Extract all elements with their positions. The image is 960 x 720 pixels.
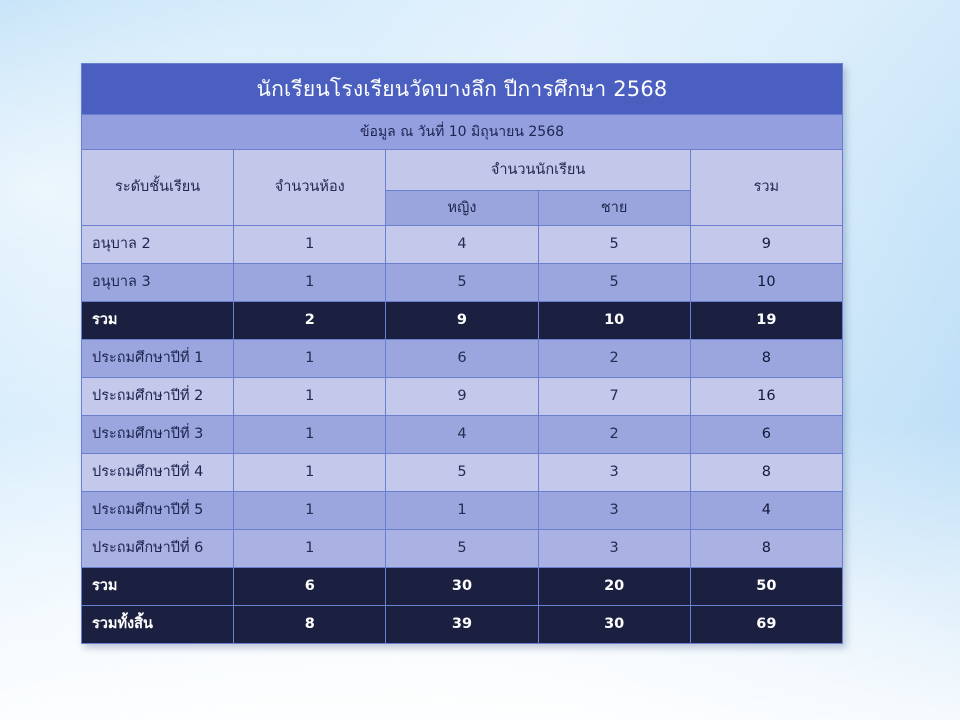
cell-level: ประถมศึกษาปีที่ 1 [82,340,234,378]
column-header-male: ชาย [538,191,690,226]
cell-rooms: 2 [234,302,386,340]
table-row: รวม6302050 [82,568,843,606]
table-row: ประถมศึกษาปีที่ 41538 [82,454,843,492]
cell-male: 7 [538,378,690,416]
column-header-level: ระดับชั้นเรียน [82,150,234,226]
cell-female: 5 [386,530,538,568]
table-row: อนุบาล 21459 [82,226,843,264]
cell-male: 3 [538,530,690,568]
cell-level: รวม [82,302,234,340]
cell-level: ประถมศึกษาปีที่ 3 [82,416,234,454]
cell-rooms: 1 [234,340,386,378]
cell-female: 5 [386,454,538,492]
cell-rooms: 1 [234,454,386,492]
data-as-of-subtitle: ข้อมูล ณ วันที่ 10 มิถุนายน 2568 [82,115,843,150]
cell-male: 5 [538,264,690,302]
cell-female: 9 [386,302,538,340]
cell-total: 69 [690,606,842,644]
cell-female: 39 [386,606,538,644]
cell-male: 2 [538,340,690,378]
cell-level: ประถมศึกษาปีที่ 2 [82,378,234,416]
cell-male: 2 [538,416,690,454]
cell-male: 5 [538,226,690,264]
cell-male: 30 [538,606,690,644]
title-row: นักเรียนโรงเรียนวัดบางลึก ปีการศึกษา 256… [82,64,843,115]
cell-rooms: 1 [234,378,386,416]
cell-level: รวม [82,568,234,606]
subtitle-row: ข้อมูล ณ วันที่ 10 มิถุนายน 2568 [82,115,843,150]
cell-female: 1 [386,492,538,530]
cell-total: 6 [690,416,842,454]
cell-level: ประถมศึกษาปีที่ 6 [82,530,234,568]
cell-male: 10 [538,302,690,340]
cell-level: ประถมศึกษาปีที่ 4 [82,454,234,492]
header-row-primary: ระดับชั้นเรียน จำนวนห้อง จำนวนนักเรียน ร… [82,150,843,191]
column-header-student-count-group: จำนวนนักเรียน [386,150,690,191]
cell-total: 10 [690,264,842,302]
cell-rooms: 1 [234,416,386,454]
table-row: รวม291019 [82,302,843,340]
table-row: ประถมศึกษาปีที่ 11628 [82,340,843,378]
cell-total: 16 [690,378,842,416]
cell-total: 50 [690,568,842,606]
cell-total: 9 [690,226,842,264]
cell-level: อนุบาล 2 [82,226,234,264]
cell-total: 8 [690,454,842,492]
cell-total: 8 [690,340,842,378]
cell-rooms: 1 [234,530,386,568]
page-title: นักเรียนโรงเรียนวัดบางลึก ปีการศึกษา 256… [82,64,843,115]
cell-female: 5 [386,264,538,302]
cell-female: 9 [386,378,538,416]
student-statistics-table-container: นักเรียนโรงเรียนวัดบางลึก ปีการศึกษา 256… [81,63,843,644]
cell-total: 4 [690,492,842,530]
cell-level: ประถมศึกษาปีที่ 5 [82,492,234,530]
cell-female: 30 [386,568,538,606]
student-statistics-table: นักเรียนโรงเรียนวัดบางลึก ปีการศึกษา 256… [81,63,843,644]
table-row: ประถมศึกษาปีที่ 31426 [82,416,843,454]
cell-female: 6 [386,340,538,378]
table-row: ประถมศึกษาปีที่ 61538 [82,530,843,568]
table-row: อนุบาล 315510 [82,264,843,302]
cell-rooms: 1 [234,226,386,264]
column-header-female: หญิง [386,191,538,226]
cell-rooms: 1 [234,492,386,530]
cell-female: 4 [386,416,538,454]
cell-rooms: 8 [234,606,386,644]
table-row: ประถมศึกษาปีที่ 51134 [82,492,843,530]
cell-total: 8 [690,530,842,568]
cell-female: 4 [386,226,538,264]
cell-level: อนุบาล 3 [82,264,234,302]
column-header-rooms: จำนวนห้อง [234,150,386,226]
cell-rooms: 1 [234,264,386,302]
table-body: นักเรียนโรงเรียนวัดบางลึก ปีการศึกษา 256… [82,64,843,644]
column-header-total: รวม [690,150,842,226]
cell-male: 3 [538,492,690,530]
cell-male: 20 [538,568,690,606]
cell-male: 3 [538,454,690,492]
table-row: ประถมศึกษาปีที่ 219716 [82,378,843,416]
cell-level: รวมทั้งสิ้น [82,606,234,644]
cell-total: 19 [690,302,842,340]
table-row: รวมทั้งสิ้น8393069 [82,606,843,644]
cell-rooms: 6 [234,568,386,606]
